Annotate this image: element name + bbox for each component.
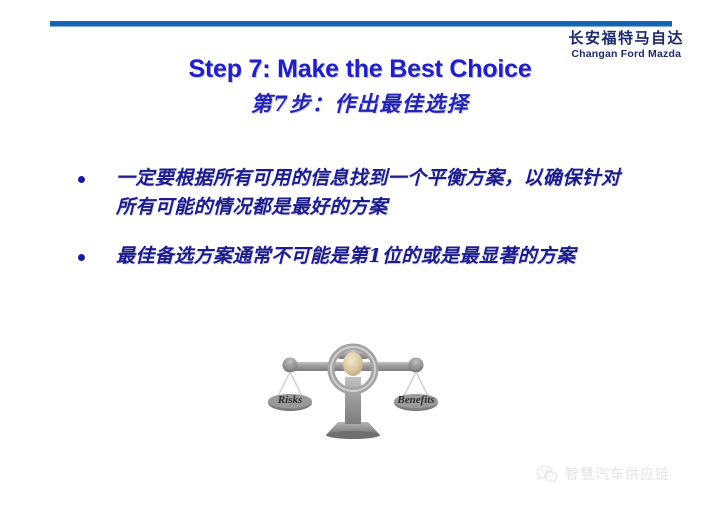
list-item: 最佳备选方案通常不可能是第1位的或是最显著的方案 xyxy=(78,242,638,271)
scale-right-pan: Benefits xyxy=(394,372,438,411)
list-item: 一定要根据所有可用的信息找到一个平衡方案，以确保针对所有可能的情况都是最好的方案 xyxy=(78,164,638,222)
bullet-text: 一定要根据所有可用的信息找到一个平衡方案，以确保针对所有可能的情况都是最好的方案 xyxy=(116,164,638,222)
scale-left-pan-label: Risks xyxy=(277,394,302,406)
scale-orb xyxy=(343,352,363,376)
watermark: 智慧汽车供应链 xyxy=(536,464,670,484)
bullet-text: 最佳备选方案通常不可能是第1位的或是最显著的方案 xyxy=(116,242,576,271)
bullet-list: 一定要根据所有可用的信息找到一个平衡方案，以确保针对所有可能的情况都是最好的方案… xyxy=(78,164,638,291)
scale-left-pan: Risks xyxy=(268,372,312,411)
watermark-text: 智慧汽车供应链 xyxy=(565,464,670,484)
header-accent-rule xyxy=(50,21,672,26)
logo-chinese-text: 长安福特马自达 xyxy=(568,31,684,46)
scale-base xyxy=(326,422,380,439)
scale-column xyxy=(345,377,361,424)
bullet-dot-icon xyxy=(78,176,85,183)
scale-right-pivot xyxy=(409,358,424,373)
bullet-dot-icon xyxy=(78,254,85,261)
scale-left-pivot xyxy=(283,358,298,373)
balance-scale-illustration: Risks Benefits xyxy=(268,343,438,448)
scale-right-pan-label: Benefits xyxy=(396,394,434,406)
slide-title-chinese: 第7步：作出最佳选择 xyxy=(0,88,720,118)
slide-title-english: Step 7: Make the Best Choice xyxy=(0,55,720,84)
wechat-icon xyxy=(536,465,558,483)
slide-canvas: 长安福特马自达 Changan Ford Mazda Step 7: Make … xyxy=(0,0,720,509)
